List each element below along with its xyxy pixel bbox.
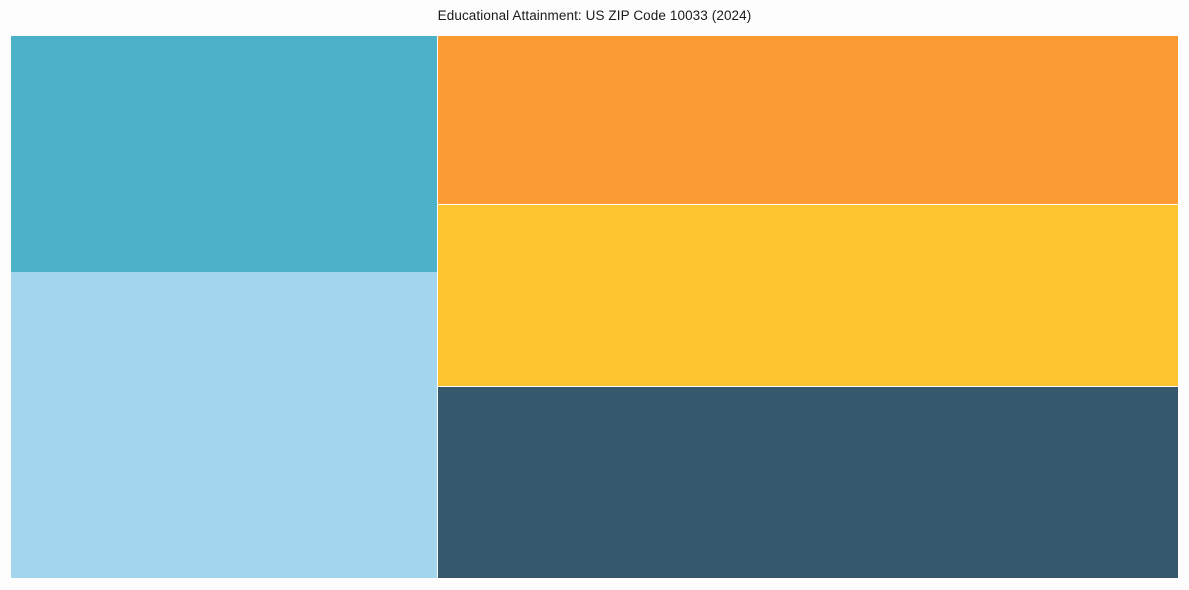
treemap-plot-area: Bachelor's Degree Some College or Associ…	[11, 36, 1178, 578]
treemap-tile-some-college-or-associates[interactable]: Some College or Associate's	[11, 272, 437, 578]
chart-figure: Educational Attainment: US ZIP Code 1003…	[0, 0, 1189, 590]
treemap-column-right: High School Graduate Graduate or Profess…	[438, 36, 1178, 578]
treemap-tile-less-than-high-school[interactable]: Less than High School	[438, 387, 1178, 578]
chart-title: Educational Attainment: US ZIP Code 1003…	[0, 7, 1189, 25]
treemap-tile-graduate-or-professional-degree[interactable]: Graduate or Professional Degree	[438, 205, 1178, 386]
treemap-column-left: Bachelor's Degree Some College or Associ…	[11, 36, 437, 578]
treemap-tile-high-school-graduate[interactable]: High School Graduate	[438, 36, 1178, 204]
treemap-tile-bachelors-degree[interactable]: Bachelor's Degree	[11, 36, 437, 272]
